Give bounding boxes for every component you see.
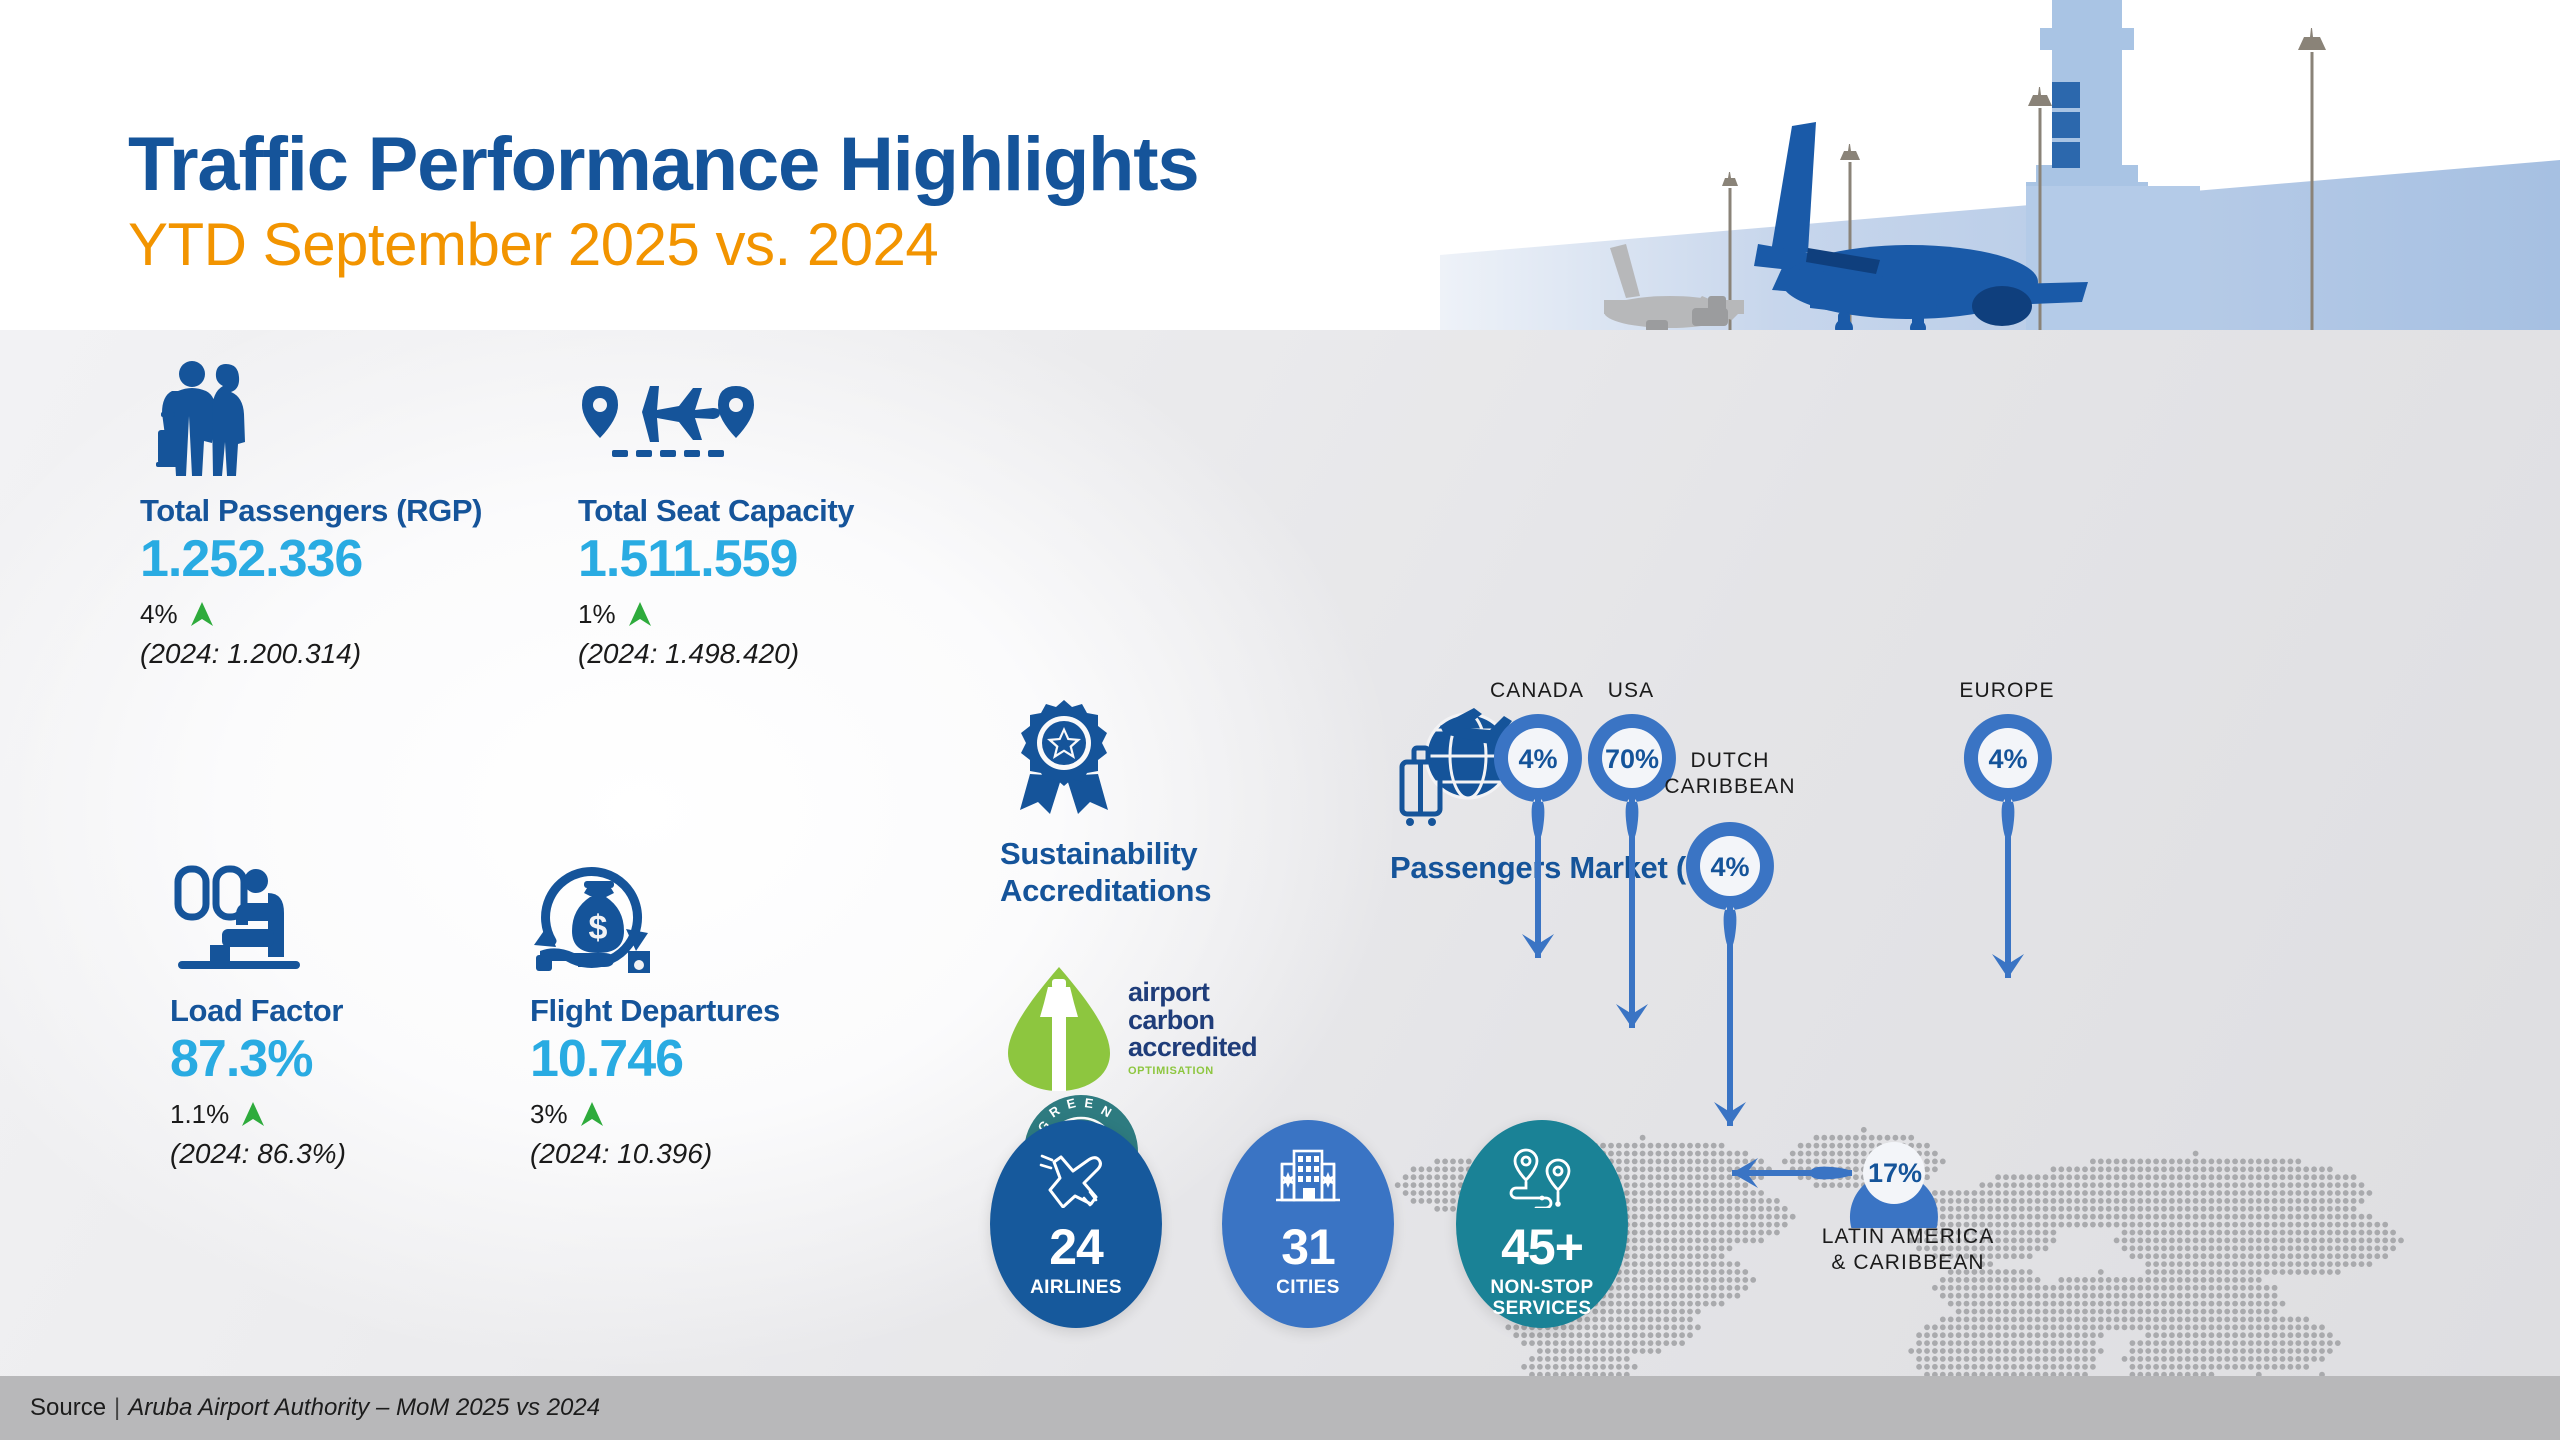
- map-pin-latin-america[interactable]: 17% LATIN AMERICA & CARIBBEAN: [1720, 1118, 1940, 1233]
- pin-label-europe: EUROPE: [1952, 678, 2062, 704]
- pin-value-europe: 4%: [1958, 744, 2058, 775]
- pin-label-latin-america: LATIN AMERICA & CARIBBEAN: [1808, 1224, 2008, 1277]
- stat-card-total-seat-capacity: Total Seat Capacity 1.511.559 1% (2024: …: [578, 358, 854, 670]
- arrow-up-icon: [241, 1101, 265, 1127]
- svg-text:E: E: [1084, 1095, 1096, 1111]
- arrow-up-icon: [628, 601, 652, 627]
- stat-card-total-passengers: Total Passengers (RGP) 1.252.336 4% (202…: [140, 358, 482, 670]
- badge-caption-line2: SERVICES: [1490, 1298, 1593, 1319]
- stat-previous: (2024: 86.3%): [170, 1138, 346, 1170]
- map-pin-europe[interactable]: EUROPE 4%: [1958, 712, 2058, 1007]
- aca-text-block: airport carbon accredited OPTIMISATION: [1128, 979, 1257, 1077]
- page-title: Traffic Performance Highlights: [128, 126, 1198, 204]
- airport-runway-illustration: [1440, 0, 2560, 330]
- arrow-up-icon: [580, 1101, 604, 1127]
- content-panel: Total Passengers (RGP) 1.252.336 4% (202…: [0, 330, 2560, 1376]
- pin-label-line1: DUTCH: [1640, 748, 1820, 774]
- airplane-icon: [1038, 1146, 1114, 1208]
- source-label: Source: [30, 1394, 106, 1421]
- badge-caption-line1: AIRLINES: [1030, 1277, 1122, 1298]
- seat-capacity-route-icon: [578, 358, 758, 478]
- stat-delta: 1%: [578, 599, 854, 630]
- badge-number: 24: [1049, 1222, 1103, 1272]
- pin-label-usa: USA: [1576, 678, 1686, 704]
- stat-value: 1.511.559: [578, 531, 854, 587]
- pin-value-canada: 4%: [1488, 744, 1588, 775]
- stat-previous: (2024: 1.498.420): [578, 638, 854, 670]
- money-bag-hand-icon: $: [530, 858, 658, 978]
- badge-number: 45+: [1501, 1222, 1583, 1272]
- badge-caption-line1: CITIES: [1276, 1277, 1340, 1298]
- map-pin-canada[interactable]: CANADA 4%: [1488, 712, 1588, 987]
- stat-label: Load Factor: [170, 993, 346, 1029]
- page-subtitle: YTD September 2025 vs. 2024: [128, 212, 1198, 278]
- stat-card-flight-departures: $ Flight Departures 10.746 3% (2024: 10.…: [530, 858, 780, 1170]
- stat-delta-value: 3%: [530, 1099, 568, 1130]
- badge-number: 31: [1281, 1222, 1335, 1272]
- city-buildings-icon: [1270, 1146, 1346, 1208]
- pin-value-dutch-caribbean: 4%: [1680, 852, 1780, 883]
- stat-label: Total Seat Capacity: [578, 493, 854, 529]
- pin-label-line2: CARIBBEAN: [1640, 774, 1820, 800]
- stat-label: Total Passengers (RGP): [140, 493, 482, 529]
- source-note: Source|Aruba Airport Authority – MoM 202…: [30, 1394, 600, 1422]
- badge-caption-line1: NON-STOP: [1490, 1277, 1593, 1298]
- badge-nonstop-services[interactable]: 45+ NON-STOP SERVICES: [1456, 1120, 1628, 1328]
- stat-delta-value: 1.1%: [170, 1099, 229, 1130]
- svg-text:$: $: [589, 909, 608, 947]
- aca-level: OPTIMISATION: [1128, 1065, 1257, 1077]
- aca-word-airport: airport: [1128, 979, 1257, 1007]
- stat-value: 1.252.336: [140, 531, 482, 587]
- pin-value-latin-america: 17%: [1850, 1158, 1940, 1189]
- stat-previous: (2024: 10.396): [530, 1138, 780, 1170]
- stat-delta: 1.1%: [170, 1099, 346, 1130]
- pin-label-line1: LATIN AMERICA: [1808, 1224, 2008, 1250]
- stat-delta-value: 1%: [578, 599, 616, 630]
- badge-caption: CITIES: [1276, 1277, 1340, 1298]
- stat-value: 87.3%: [170, 1031, 346, 1087]
- title-block: Traffic Performance Highlights YTD Septe…: [128, 126, 1198, 278]
- route-pins-icon: [1504, 1146, 1580, 1208]
- sustainability-section: Sustainability Accreditations airport ca…: [1000, 698, 1330, 909]
- stat-delta-value: 4%: [140, 599, 178, 630]
- source-value: Aruba Airport Authority – MoM 2025 vs 20…: [128, 1394, 600, 1421]
- stat-delta: 3%: [530, 1099, 780, 1130]
- badge-airlines[interactable]: 24 AIRLINES: [990, 1120, 1162, 1328]
- carbon-leaf-icon: [1000, 963, 1118, 1093]
- airport-carbon-accredited-logo: airport carbon accredited OPTIMISATION: [1000, 963, 1257, 1093]
- award-ribbon-icon: [1004, 698, 1124, 818]
- stat-previous: (2024: 1.200.314): [140, 638, 482, 670]
- infographic-root: Traffic Performance Highlights YTD Septe…: [0, 0, 2560, 1440]
- header: Traffic Performance Highlights YTD Septe…: [0, 0, 2560, 330]
- stat-card-load-factor: Load Factor 87.3% 1.1% (2024: 86.3%): [170, 858, 346, 1170]
- footer-bar: Source|Aruba Airport Authority – MoM 202…: [0, 1376, 2560, 1440]
- badge-caption: AIRLINES: [1030, 1277, 1122, 1298]
- arrow-up-icon: [190, 601, 214, 627]
- source-separator: |: [114, 1394, 120, 1421]
- badge-caption: NON-STOP SERVICES: [1490, 1277, 1593, 1320]
- stat-delta: 4%: [140, 599, 482, 630]
- badge-cities[interactable]: 31 CITIES: [1222, 1120, 1394, 1328]
- map-pin-dutch-caribbean[interactable]: DUTCH CARIBBEAN 4%: [1680, 820, 1780, 1155]
- sustainability-title: Sustainability Accreditations: [1000, 835, 1330, 909]
- sustainability-title-line1: Sustainability: [1000, 835, 1330, 872]
- pin-label-dutch-caribbean: DUTCH CARIBBEAN: [1640, 748, 1820, 801]
- aca-word-accredited: accredited: [1128, 1034, 1257, 1062]
- stat-value: 10.746: [530, 1031, 780, 1087]
- pin-label-line2: & CARIBBEAN: [1808, 1250, 2008, 1276]
- airplane-seat-icon: [170, 858, 310, 978]
- stat-label: Flight Departures: [530, 993, 780, 1029]
- aca-word-carbon: carbon: [1128, 1007, 1257, 1035]
- passengers-couple-icon: [140, 358, 270, 478]
- sustainability-title-line2: Accreditations: [1000, 872, 1330, 909]
